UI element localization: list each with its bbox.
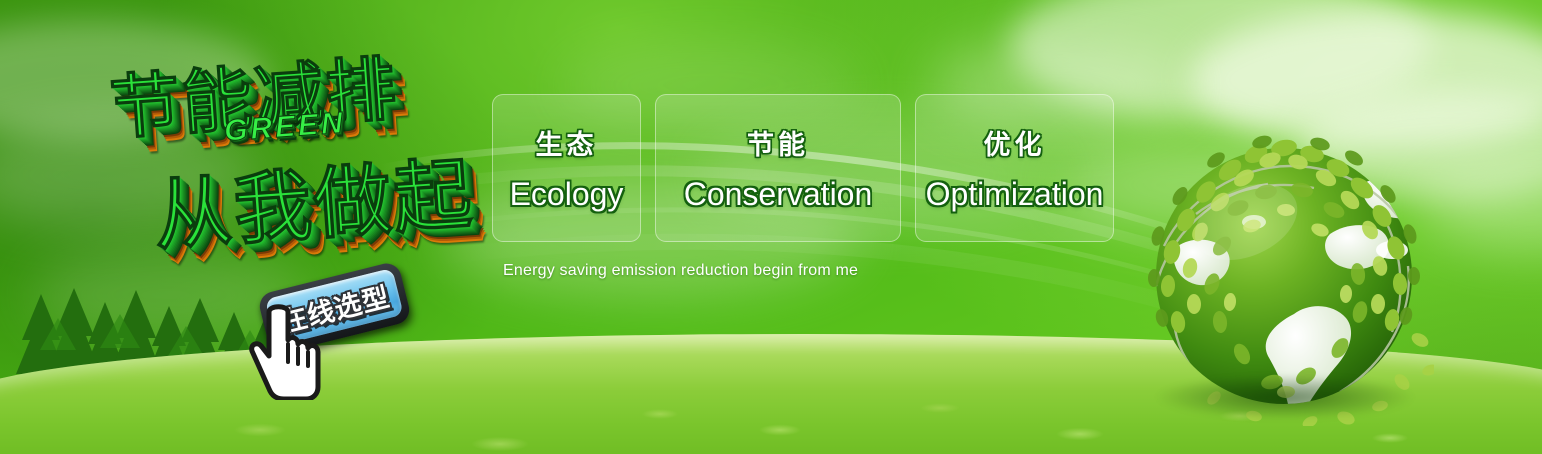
feature-card-conservation[interactable]: 节能 Conservation	[655, 94, 901, 242]
feature-card-optimization[interactable]: 优化 Optimization	[915, 94, 1114, 242]
feature-card-ecology[interactable]: 生态 Ecology	[492, 94, 641, 242]
globe-shadow	[1154, 374, 1416, 420]
feature-cards: 生态 Ecology 节能 Conservation 优化 Optimizati…	[492, 94, 1114, 242]
headline-3d-text: 节能减排 GREEN 从我做起	[96, 27, 491, 283]
card-title-en: Conservation	[684, 176, 873, 213]
leafy-earth-globe-icon	[1134, 126, 1434, 426]
card-title-cn: 优化	[984, 123, 1046, 162]
card-title-cn: 节能	[747, 123, 809, 162]
card-title-cn: 生态	[536, 123, 598, 162]
tagline: Energy saving emission reduction begin f…	[503, 262, 858, 280]
hand-pointer-cursor-icon	[243, 300, 329, 400]
green-energy-banner: 节能减排 GREEN 从我做起 在线选型 生态 Ecology 节能 Conse…	[0, 0, 1542, 454]
headline-line-2: 从我做起	[150, 132, 477, 266]
card-title-en: Optimization	[926, 176, 1104, 213]
card-title-en: Ecology	[510, 176, 624, 213]
